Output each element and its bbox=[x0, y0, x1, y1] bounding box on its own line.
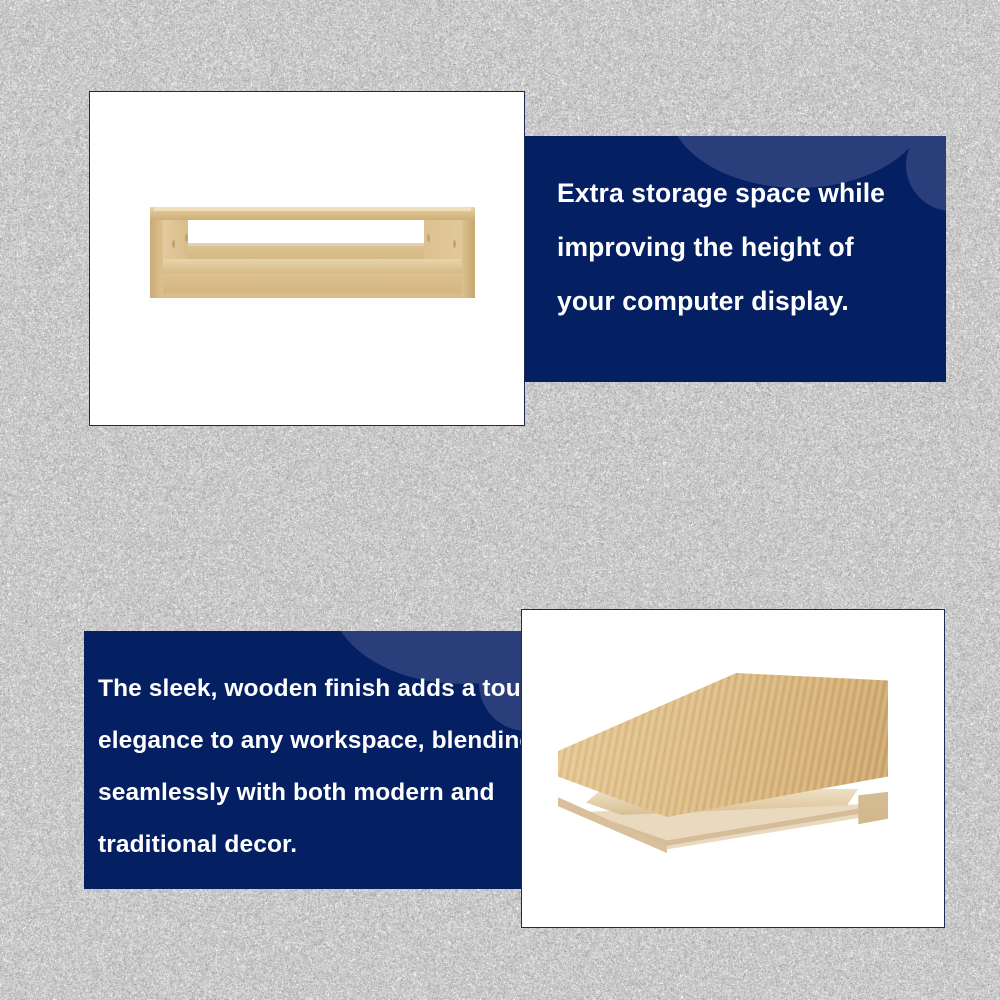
wooden-monitor-stand-angled-top-view bbox=[558, 673, 888, 853]
callout-line: Extra storage space while bbox=[557, 166, 929, 220]
callout-text-bottom-left: The sleek, wooden finish adds a touch of… bbox=[98, 663, 525, 871]
screw-hole-icon bbox=[453, 240, 456, 248]
product-photo-panel-top-left bbox=[89, 91, 525, 426]
callout-text-top-right: Extra storage space while improving the … bbox=[557, 166, 929, 328]
collage-stage: Extra storage space while improving the … bbox=[0, 0, 1000, 1000]
product-photo-panel-bottom-right bbox=[521, 609, 945, 928]
stand-left-leg bbox=[150, 220, 163, 298]
screw-hole-icon bbox=[427, 234, 430, 242]
wooden-monitor-stand-front-view bbox=[150, 207, 475, 307]
screw-hole-icon bbox=[185, 234, 188, 242]
callout-line: improving the height of bbox=[557, 220, 929, 274]
stand-top-surface bbox=[150, 207, 475, 220]
callout-line: elegance to any workspace, blending bbox=[98, 715, 525, 767]
text-callout-panel-top-right: Extra storage space while improving the … bbox=[521, 136, 946, 382]
callout-line: seamlessly with both modern and bbox=[98, 767, 525, 819]
screw-hole-icon bbox=[172, 240, 175, 248]
callout-line: your computer display. bbox=[557, 274, 929, 328]
stand-middle-shelf bbox=[163, 259, 462, 273]
stand-right-leg bbox=[462, 220, 475, 298]
stand-base-edge bbox=[163, 293, 462, 298]
callout-line: traditional decor. bbox=[98, 819, 525, 871]
callout-line: The sleek, wooden finish adds a touch of bbox=[98, 663, 525, 715]
text-callout-panel-bottom-left: The sleek, wooden finish adds a touch of… bbox=[84, 631, 525, 889]
stand-top-highlight bbox=[154, 207, 471, 211]
